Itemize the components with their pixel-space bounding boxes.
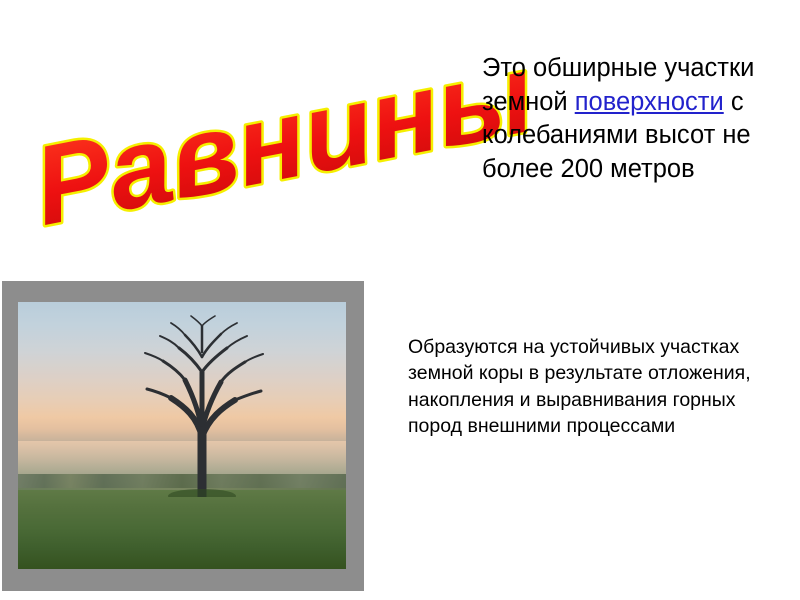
wordart-title: Равнины [22,48,462,238]
wordart-text: Равнины [24,30,543,249]
slide: Равнины Это обширные участки земной пове… [0,0,800,600]
paragraph-formation: Образуются на устойчивых участках земной… [408,334,790,439]
landscape-photo [18,302,346,569]
surface-hyperlink[interactable]: поверхности [575,88,724,116]
photo-content [18,302,346,569]
picture-frame [2,281,364,591]
grass-field [18,490,346,569]
paragraph-definition: Это обширные участки земной поверхности … [482,52,787,187]
lone-tree-icon [127,312,277,497]
